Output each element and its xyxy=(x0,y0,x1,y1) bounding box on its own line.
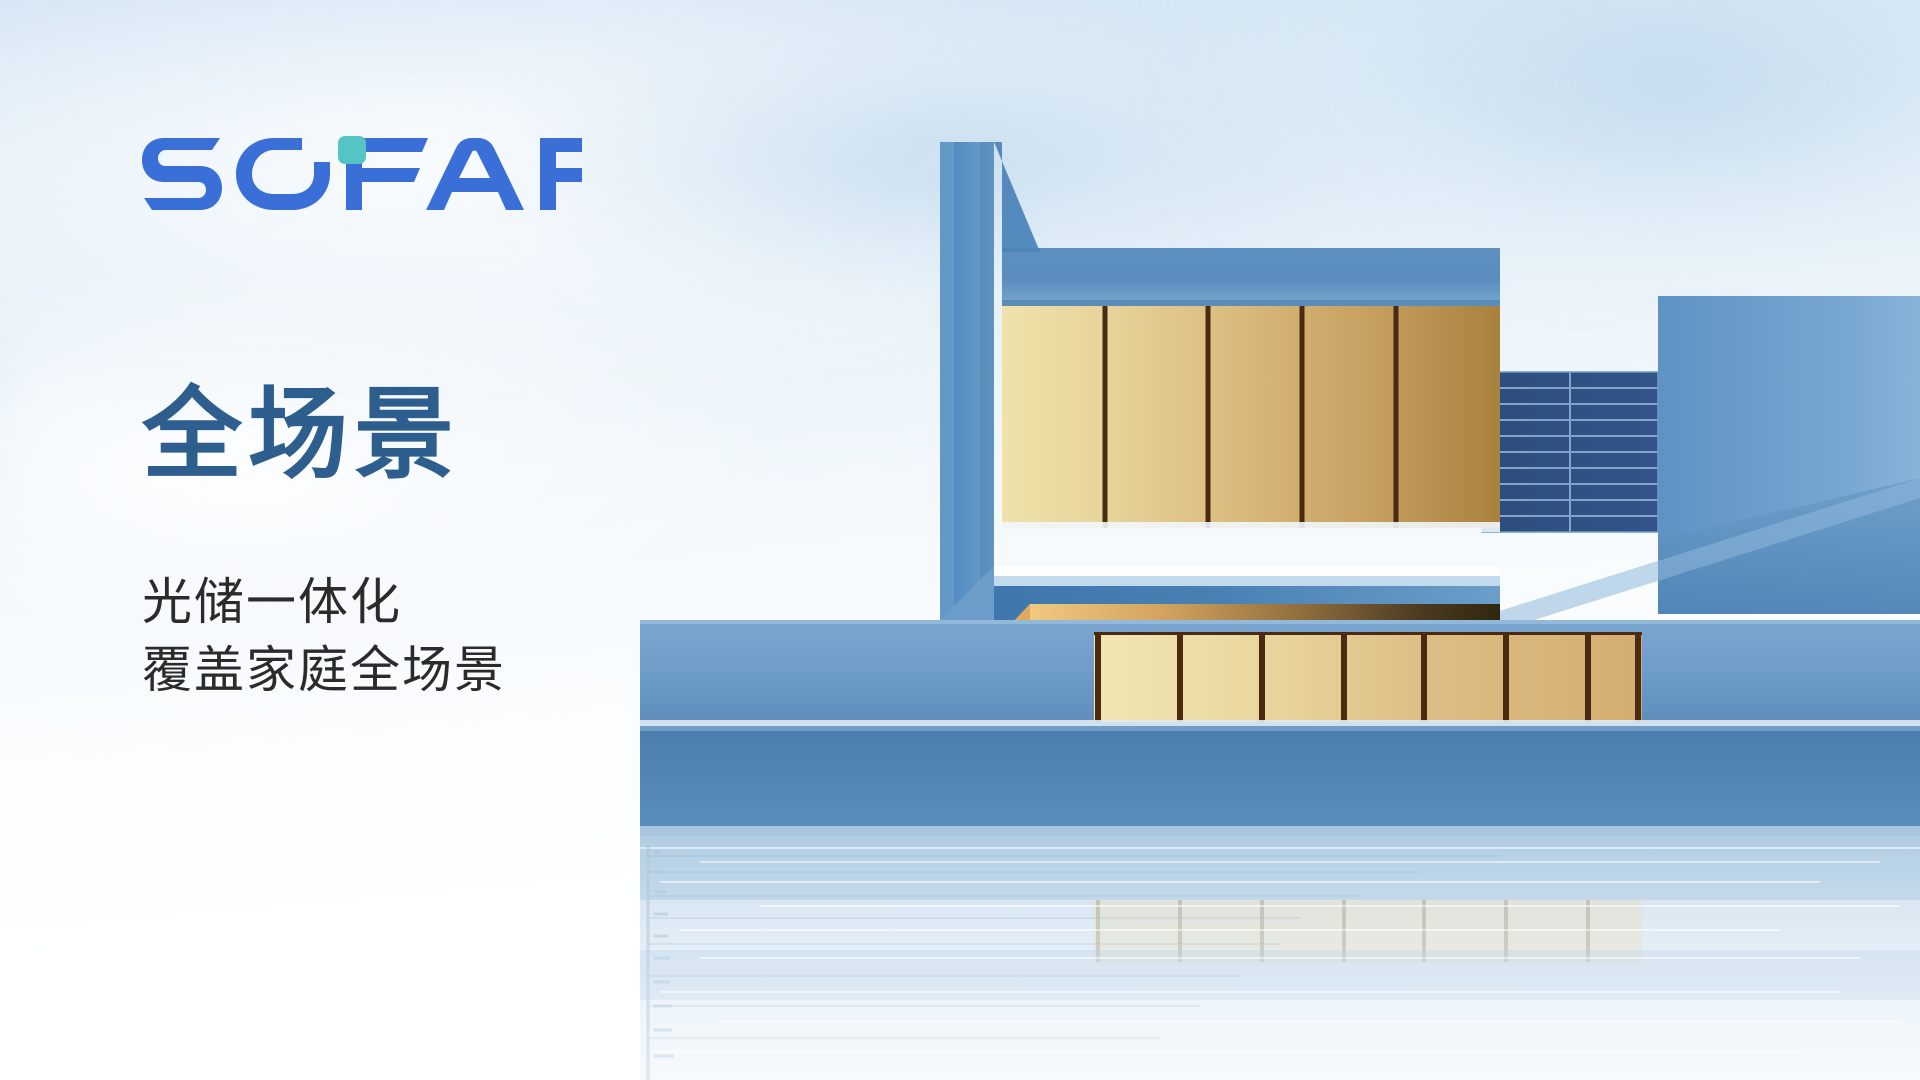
subtitle-line-2: 覆盖家庭全场景 xyxy=(142,636,506,704)
sofar-logo-mark xyxy=(142,132,582,210)
subtitle-block: 光储一体化 覆盖家庭全场景 xyxy=(142,568,506,704)
lower-main-band xyxy=(640,620,1920,726)
base-plinth xyxy=(640,720,1920,840)
logo-accent-square xyxy=(338,136,366,164)
subtitle-line-1: 光储一体化 xyxy=(142,568,506,636)
sofar-logo[interactable] xyxy=(142,132,582,210)
upper-box xyxy=(1002,248,1500,532)
solar-panel-array xyxy=(1482,372,1658,532)
page-title: 全场景 xyxy=(142,382,460,487)
hero-banner: 全场景 光储一体化 覆盖家庭全场景 xyxy=(0,0,1920,1080)
water-reflection xyxy=(640,836,1920,1080)
